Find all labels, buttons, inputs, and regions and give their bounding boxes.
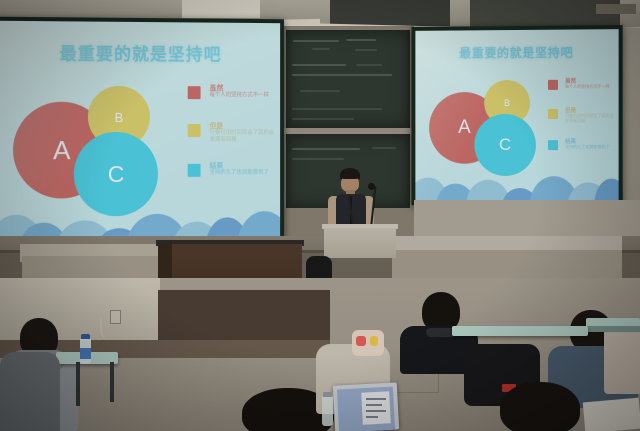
legend-swatch-yellow [188,124,201,137]
presenter-hair-fringe [341,173,359,179]
desk-right-shadow [586,326,640,332]
desk-mid-right [452,326,588,336]
ceiling-vent [596,4,636,14]
venn-diagram-right: A B C [429,78,540,178]
legend-item: 但是 只要付出时间就会了真的会发现有回报 [548,107,617,138]
legend-swatch-cyan [188,164,201,177]
chalk-writing [356,64,382,66]
ceiling-recess-left [330,0,450,26]
venn-circle-c: C [474,114,536,176]
legend-item: 结果 坚持的久了也就能做到了 [188,162,278,200]
pencil-pouch-art [370,336,378,346]
legend-item: 虽然 每个人的坚持方式不一样 [188,84,278,122]
legend-swatch-yellow [548,109,558,119]
microphone-head [368,183,375,190]
projection-screen-right: 最重要的就是坚持吧 A B C 虽然 每个人的坚持方式不一样 [411,25,622,207]
student-head [500,382,580,431]
student-left-seatback [0,352,60,431]
laptop-document-panel [361,391,391,424]
presenter-lectern [324,228,396,258]
student-front-right [496,382,588,431]
legend-swatch-red [188,86,201,99]
document-text-line [366,398,386,400]
lecture-hall-screenshot: 最重要的就是坚持吧 A B C 虽然 每个人的坚持方式不一样 [0,0,640,431]
slide-left: 最重要的就是坚持吧 A B C 虽然 每个人的坚持方式不一样 [0,21,280,245]
legend-item: 结果 坚持的久了也就能做到了 [548,138,617,167]
chalk-writing [355,49,377,51]
water-bottle-cap [81,334,90,339]
chalk-writing [372,147,396,149]
water-bottle-secondary [322,396,333,426]
slide-right: 最重要的就是坚持吧 A B C 虽然 每个人的坚持方式不一样 [415,29,618,203]
legend-item: 虽然 每个人的坚持方式不一样 [548,78,617,107]
legend-body: 每个人的坚持方式不一样 [209,92,274,99]
venn-diagram-left: A B C [13,84,164,215]
document-text-line [366,410,386,412]
legend-item: 但是 只要付出时间就会了真的会发现有回报 [188,122,278,162]
venn-circle-b-label: B [504,98,510,108]
desk-leg [110,362,114,402]
chalk-writing [346,39,376,41]
venn-circle-a-label: A [53,135,71,166]
chalkboard-ledge [282,128,414,134]
ceiling-panel-light [182,0,260,18]
slide-legend-left: 虽然 每个人的坚持方式不一样 但是 只要付出时间就会了真的会发现有回报 结果 坚… [188,84,278,204]
desk-leg [76,362,80,406]
chalk-writing [292,148,360,150]
chalk-writing [292,158,344,160]
legend-body: 只要付出时间就会了真的会发现有回报 [565,113,616,123]
legend-body: 坚持的久了也就能做到了 [209,170,274,177]
projection-screen-left: 最重要的就是坚持吧 A B C 虽然 每个人的坚持方式不一样 [0,17,284,250]
chalkboard-upper [286,30,410,128]
paper-sheet [583,398,640,431]
water-bottle-label [80,348,91,359]
legend-body: 只要付出时间就会了真的会发现有回报 [209,130,274,144]
chalk-writing [300,90,340,92]
slide-title-left: 最重要的就是坚持吧 [0,39,280,66]
venn-circle-c-label: C [499,135,511,155]
legend-body: 每个人的坚持方式不一样 [565,84,616,89]
chalk-writing [293,40,339,42]
outlet-cable [100,318,118,340]
chalk-writing [292,74,392,76]
document-text-line [366,416,378,418]
legend-swatch-cyan [548,140,558,150]
podium-panel-right [392,250,622,278]
water-bottle-secondary-cap [323,392,332,397]
chalk-writing [312,48,330,50]
podium-panel-left [22,256,168,278]
chalk-writing [292,118,354,120]
seat-back [0,352,60,431]
venn-circle-c: C [74,132,158,216]
slide-title-right: 最重要的就是坚持吧 [415,43,618,61]
chalk-writing [292,64,346,66]
venn-circle-b-label: B [115,109,124,124]
legend-body: 坚持的久了也就能做到了 [565,144,616,149]
venn-circle-c-label: C [108,161,125,188]
legend-swatch-red [548,80,558,90]
pencil-pouch-art [356,336,366,346]
document-text-line [366,404,382,406]
venn-circle-a-label: A [458,117,471,139]
slide-legend-right: 虽然 每个人的坚持方式不一样 但是 只要付出时间就会了真的会发现有回报 结果 坚… [548,78,617,171]
chalk-writing [292,108,382,110]
